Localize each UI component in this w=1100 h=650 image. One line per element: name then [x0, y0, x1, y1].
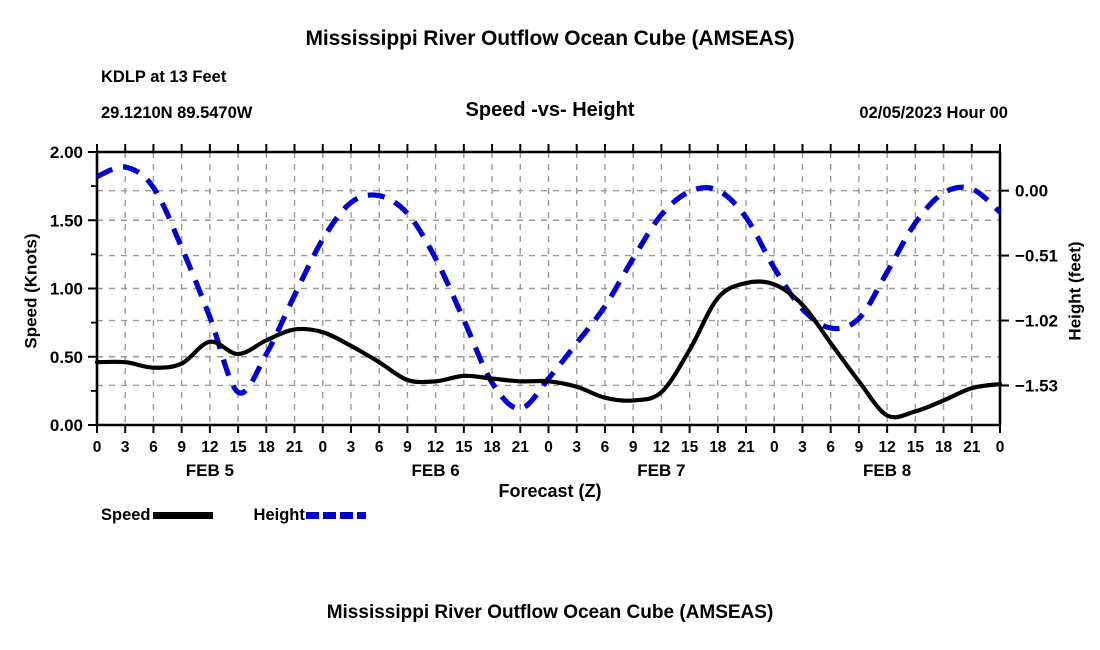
svg-text:FEB 8: FEB 8	[863, 461, 911, 480]
svg-text:0: 0	[318, 439, 327, 456]
svg-text:9: 9	[177, 439, 186, 456]
svg-text:0.00: 0.00	[50, 416, 83, 435]
svg-text:21: 21	[286, 439, 304, 456]
legend-item-speed: Speed	[101, 506, 213, 525]
svg-text:0.00: 0.00	[1015, 182, 1048, 201]
svg-text:18: 18	[258, 439, 276, 456]
svg-text:0: 0	[93, 439, 102, 456]
svg-text:15: 15	[229, 439, 247, 456]
legend-spacer	[213, 515, 254, 516]
legend-swatch-height-line	[306, 512, 366, 519]
svg-text:21: 21	[737, 439, 755, 456]
svg-text:12: 12	[201, 439, 218, 456]
svg-text:FEB 7: FEB 7	[637, 461, 685, 480]
svg-text:FEB 5: FEB 5	[186, 461, 234, 480]
plot-area: 0369121518210369121518210369121518210369…	[0, 0, 1100, 650]
x-axis-tick-labels: 0369121518210369121518210369121518210369…	[93, 439, 1005, 456]
chart-svg: 0369121518210369121518210369121518210369…	[0, 0, 1100, 650]
svg-text:−1.53: −1.53	[1015, 376, 1058, 395]
svg-text:18: 18	[709, 439, 727, 456]
svg-text:6: 6	[375, 439, 384, 456]
svg-text:FEB 6: FEB 6	[412, 461, 460, 480]
svg-text:15: 15	[455, 439, 473, 456]
svg-text:12: 12	[879, 439, 896, 456]
svg-text:0: 0	[544, 439, 553, 456]
legend-label-speed: Speed	[101, 506, 151, 525]
svg-text:3: 3	[347, 439, 356, 456]
svg-text:0: 0	[770, 439, 779, 456]
svg-text:9: 9	[403, 439, 412, 456]
svg-text:6: 6	[826, 439, 835, 456]
svg-text:0: 0	[996, 439, 1005, 456]
grid-lines	[97, 152, 1000, 425]
y-axis-right-tick-labels: 0.00−0.51−1.02−1.53	[1015, 182, 1058, 396]
svg-text:3: 3	[798, 439, 807, 456]
svg-text:0.50: 0.50	[50, 348, 83, 367]
y-axis-left-tick-labels: 0.000.501.001.502.00	[50, 143, 83, 435]
svg-text:3: 3	[572, 439, 581, 456]
svg-text:18: 18	[483, 439, 501, 456]
svg-text:21: 21	[963, 439, 981, 456]
svg-text:1.50: 1.50	[50, 211, 83, 230]
day-labels: FEB 5FEB 6FEB 7FEB 8	[186, 461, 911, 480]
svg-text:−1.02: −1.02	[1015, 312, 1058, 331]
legend-swatch-speed-line	[153, 512, 213, 519]
y-axis-left-ticks	[88, 152, 97, 425]
y-axis-right-ticks	[1000, 191, 1009, 386]
svg-text:18: 18	[935, 439, 953, 456]
legend: Speed Height	[101, 504, 366, 526]
svg-text:3: 3	[121, 439, 130, 456]
chart-page: Mississippi River Outflow Ocean Cube (AM…	[0, 0, 1100, 650]
svg-text:12: 12	[427, 439, 444, 456]
svg-text:1.00: 1.00	[50, 280, 83, 299]
svg-text:15: 15	[907, 439, 925, 456]
svg-text:15: 15	[681, 439, 699, 456]
svg-text:2.00: 2.00	[50, 143, 83, 162]
svg-text:6: 6	[149, 439, 158, 456]
svg-text:6: 6	[601, 439, 610, 456]
svg-text:9: 9	[629, 439, 638, 456]
legend-item-height: Height	[254, 506, 366, 525]
legend-label-height: Height	[254, 506, 305, 525]
footer-title: Mississippi River Outflow Ocean Cube (AM…	[0, 602, 1100, 624]
svg-text:−0.51: −0.51	[1015, 247, 1058, 266]
svg-text:21: 21	[512, 439, 530, 456]
svg-text:12: 12	[653, 439, 670, 456]
svg-text:9: 9	[855, 439, 864, 456]
